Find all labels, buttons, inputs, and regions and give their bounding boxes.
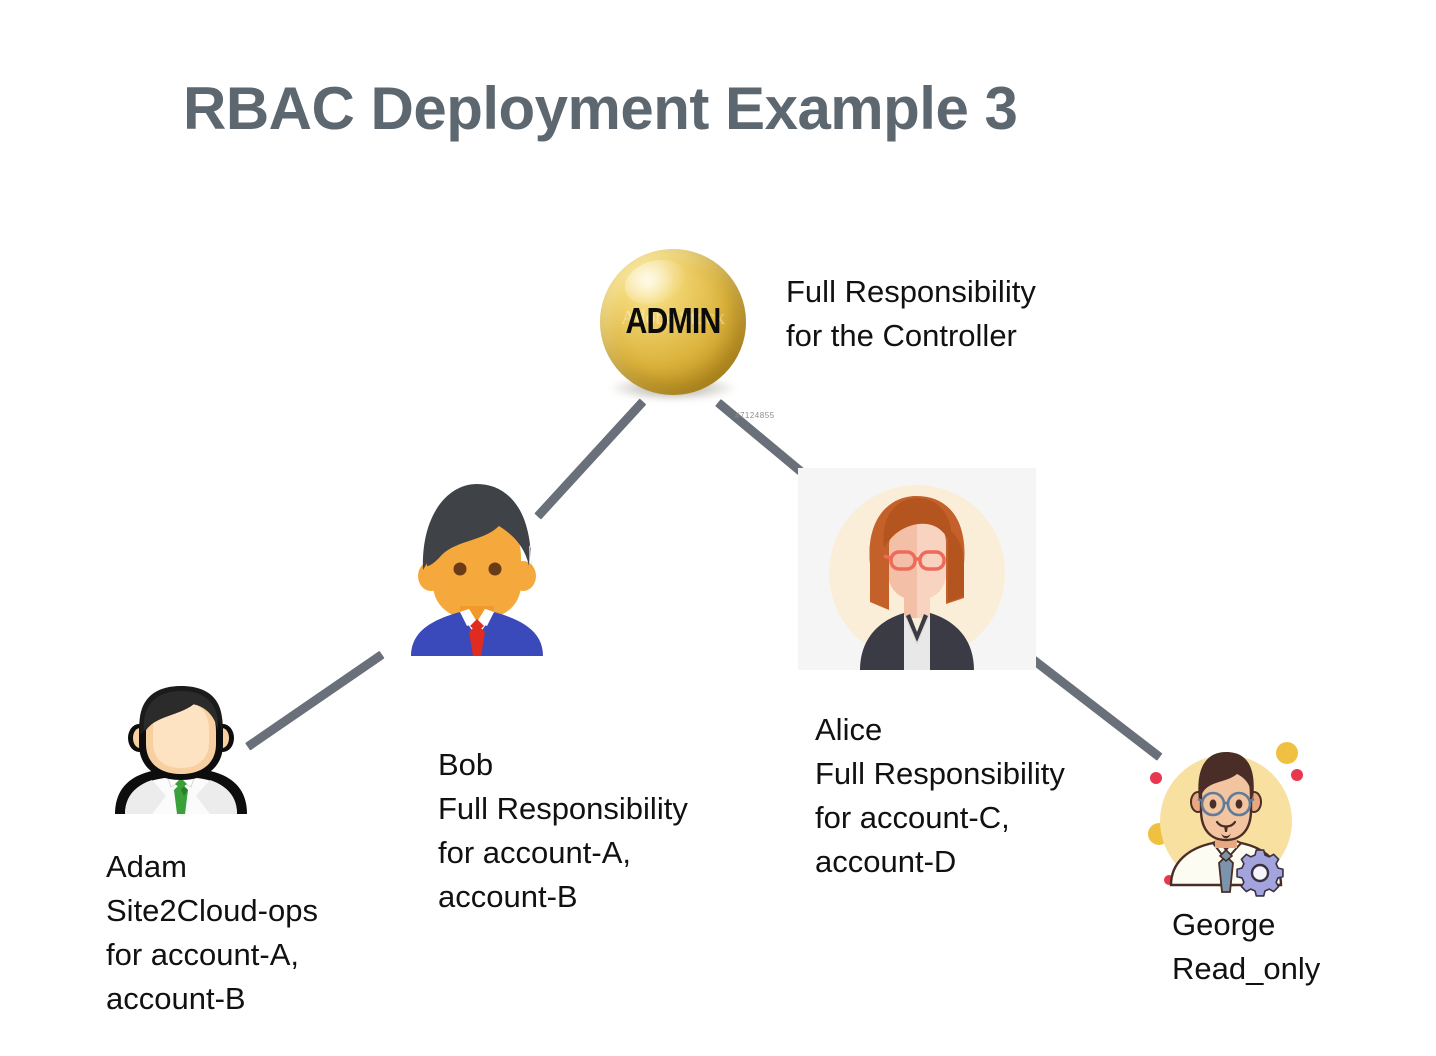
node-alice[interactable]	[798, 468, 1036, 670]
page-title: RBAC Deployment Example 3	[183, 74, 1017, 143]
stock-id-watermark: #7124855	[735, 411, 775, 420]
node-george[interactable]	[1145, 740, 1307, 902]
man-blue-suit-red-tie-avatar	[403, 478, 551, 656]
admin-badge-label: ADMIN	[612, 300, 735, 342]
admin-description: Full Responsibility for the Controller	[786, 270, 1146, 358]
node-adam[interactable]	[106, 686, 256, 814]
george-description: George Read_only	[1172, 903, 1432, 991]
woman-glasses-blazer-avatar	[798, 468, 1036, 670]
classic-user-green-tie-icon	[106, 686, 256, 814]
man-glasses-gear-avatar	[1145, 740, 1307, 902]
bob-description: Bob Full Responsibility for account-A, a…	[438, 743, 768, 919]
node-bob[interactable]	[403, 478, 551, 656]
slide-canvas: RBAC Deployment Example 3 Adobe Stock AD…	[0, 0, 1436, 1056]
node-admin[interactable]: Adobe Stock ADMIN	[600, 249, 746, 395]
connector-admin-to-bob	[534, 398, 646, 519]
alice-description: Alice Full Responsibility for account-C,…	[815, 708, 1145, 884]
adam-description: Adam Site2Cloud-ops for account-A, accou…	[106, 845, 406, 1021]
connector-bob-to-adam	[245, 651, 384, 751]
